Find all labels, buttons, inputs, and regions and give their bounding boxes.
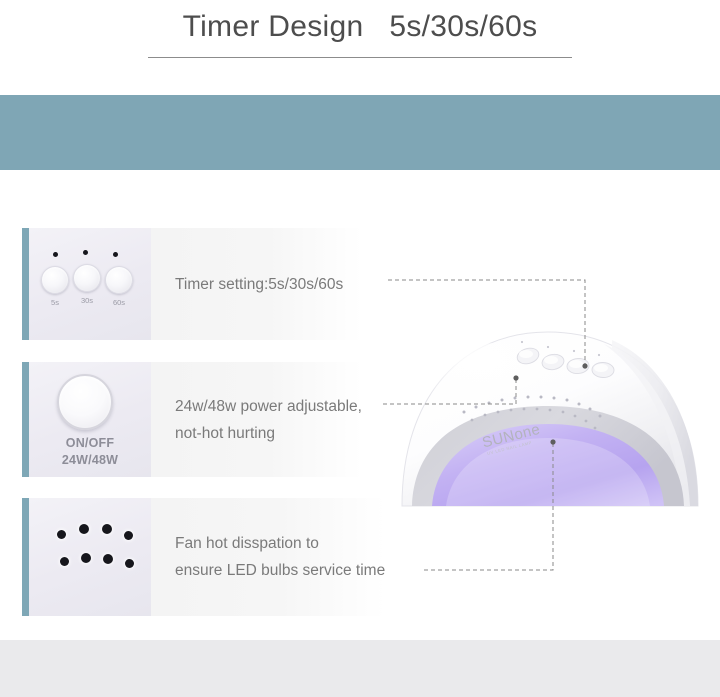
- power-label-wattage: 24W/48W: [29, 453, 151, 467]
- vent-hole: [124, 531, 133, 540]
- title-block: Timer Design 5s/30s/60s: [0, 0, 720, 95]
- feature-text-line: ensure LED bulbs service time: [175, 557, 385, 584]
- led-indicator-1: [53, 252, 58, 257]
- feature-text-line: Timer setting:5s/30s/60s: [175, 271, 362, 298]
- feature-text-line: Fan hot disspation to: [175, 530, 385, 557]
- timer-button-60s[interactable]: [105, 266, 133, 294]
- vent-hole: [60, 557, 69, 566]
- feature-text-power-adjustable: 24w/48w power adjustable, not-hot hurtin…: [151, 362, 362, 477]
- vent-hole: [125, 559, 134, 568]
- vent-hole: [57, 530, 66, 539]
- title-divider: [148, 57, 572, 58]
- power-onoff-button[interactable]: [57, 374, 113, 430]
- panel-accent-bar: [22, 498, 29, 616]
- timer-label-30s: 30s: [73, 296, 101, 305]
- header-banner: [0, 95, 720, 170]
- vent-hole: [102, 524, 112, 534]
- timer-label-5s: 5s: [41, 298, 69, 307]
- panel-accent-bar: [22, 362, 29, 477]
- feature-panel-power-adjustable: ON/OFF 24W/48W 24w/48w power adjustable,…: [22, 362, 362, 477]
- vent-hole: [79, 524, 89, 534]
- product-lamp-image: SUNone UV LED NAIL LAMP: [398, 320, 720, 520]
- thumb-vent-holes: [29, 498, 151, 616]
- content-stage: SUNone UV LED NAIL LAMP 5s 30s 60s Timer…: [0, 170, 720, 640]
- feature-text-line: 24w/48w power adjustable,: [175, 393, 362, 420]
- feature-text-line: not-hot hurting: [175, 420, 362, 447]
- timer-button-30s[interactable]: [73, 264, 101, 292]
- timer-button-5s[interactable]: [41, 266, 69, 294]
- page-title: Timer Design 5s/30s/60s: [148, 10, 572, 44]
- feature-panel-timer-setting: 5s 30s 60s Timer setting:5s/30s/60s: [22, 228, 362, 340]
- footer-band: [0, 640, 720, 697]
- panel-accent-bar: [22, 228, 29, 340]
- vent-hole: [81, 553, 91, 563]
- led-indicator-3: [113, 252, 118, 257]
- feature-text-timer-setting: Timer setting:5s/30s/60s: [151, 228, 362, 340]
- thumb-power-button: ON/OFF 24W/48W: [29, 362, 151, 477]
- vent-hole: [103, 554, 113, 564]
- feature-panel-fan-dissipation: Fan hot disspation to ensure LED bulbs s…: [22, 498, 362, 616]
- feature-text-fan-dissipation: Fan hot disspation to ensure LED bulbs s…: [151, 498, 385, 616]
- timer-label-60s: 60s: [105, 298, 133, 307]
- led-indicator-2: [83, 250, 88, 255]
- thumb-timer-buttons: 5s 30s 60s: [29, 228, 151, 340]
- power-label-onoff: ON/OFF: [29, 436, 151, 450]
